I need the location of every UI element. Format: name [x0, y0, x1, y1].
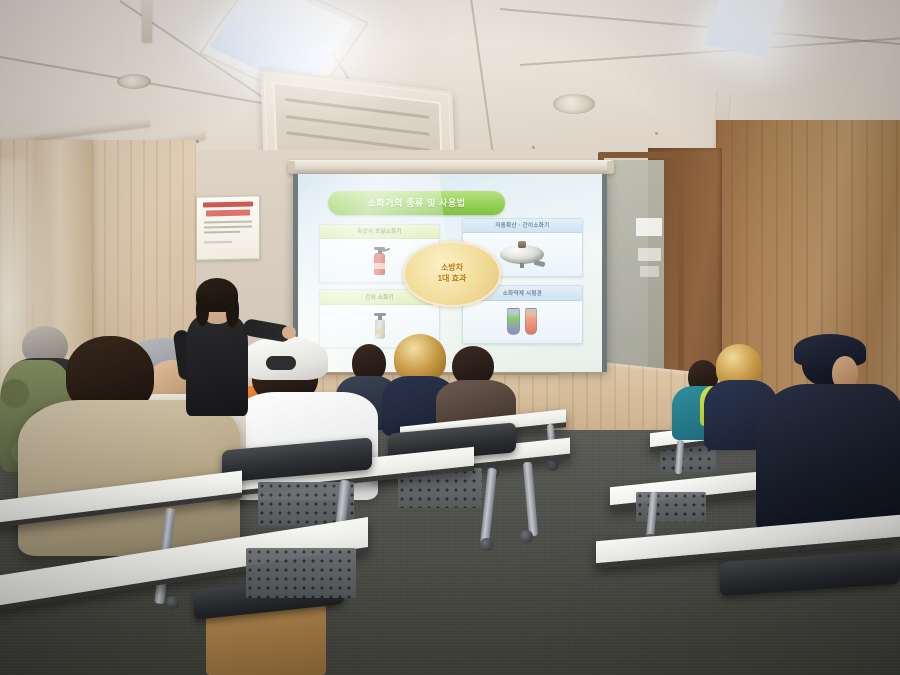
classroom-photo: 소화기의 종류 및 사용법 축압식 포말소화기 자동확산 · 간이소화기	[0, 0, 900, 675]
ceiling-light-right	[704, 0, 786, 57]
slide-card-automatic-label: 자동확산 · 간이소화기	[495, 221, 549, 229]
glass-reflection-mid	[638, 248, 661, 261]
glass-reflection-small	[640, 266, 659, 277]
slide-center-badge: 소방차 1대 효과	[403, 241, 501, 306]
badge-line-1: 소방차	[441, 263, 463, 274]
slide-surface: 소화기의 종류 및 사용법 축압식 포말소화기 자동확산 · 간이소화기	[298, 174, 602, 372]
presenter-hand	[282, 326, 296, 339]
table-modesty-panel	[246, 548, 356, 598]
projection-screen: 소화기의 종류 및 사용법 축압식 포말소화기 자동확산 · 간이소화기	[293, 174, 607, 372]
ceiling-speaker-right	[553, 94, 595, 114]
badge-line-2: 1대 효과	[438, 274, 467, 285]
navy-baseball-cap	[794, 334, 866, 366]
projection-screen-roller[interactable]	[288, 160, 614, 174]
slide-card-agent-label: 소화약제 시험관	[503, 289, 542, 297]
presenter-torso	[186, 316, 248, 416]
ceiling-speaker-left	[117, 74, 151, 89]
gold-head-scarf	[394, 334, 446, 382]
notice-poster	[196, 195, 260, 260]
dome-extinguisher-icon	[500, 241, 544, 267]
table-modesty-panel	[636, 492, 706, 522]
glass-reflection-large	[636, 218, 662, 236]
test-tubes-icon	[507, 307, 537, 335]
